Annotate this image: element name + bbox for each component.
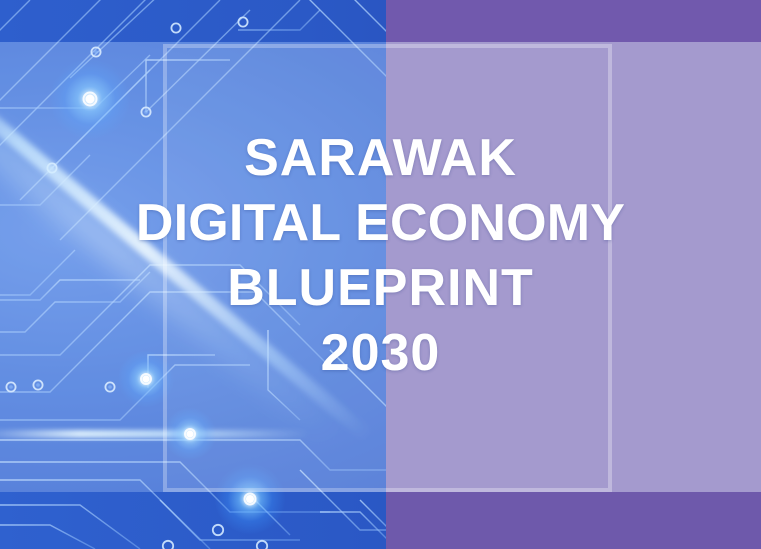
purple-main-panel (386, 42, 761, 492)
poster-banner: SARAWAK DIGITAL ECONOMY BLUEPRINT 2030 (0, 0, 761, 549)
purple-bottom-band (386, 492, 761, 549)
horizontal-light-beam (0, 430, 310, 438)
purple-overlay-panel (386, 0, 761, 549)
purple-top-band (386, 0, 761, 42)
